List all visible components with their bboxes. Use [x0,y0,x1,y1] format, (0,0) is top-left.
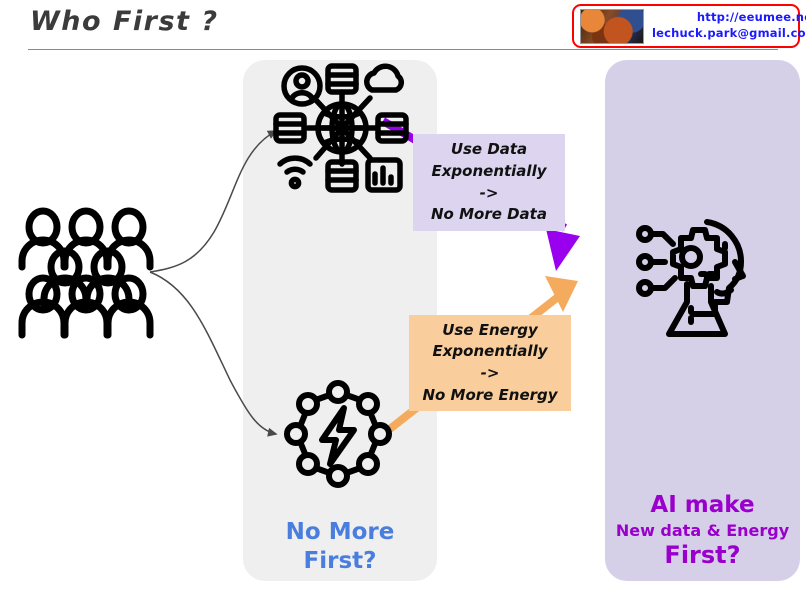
energy-callout-line4: No More Energy [413,385,567,407]
energy-callout: Use Energy Exponentially -> No More Ener… [409,315,571,411]
energy-callout-line2: Exponentially [413,341,567,363]
energy-callout-line3: -> [413,363,567,385]
ai-head-gear-icon [635,212,765,342]
data-callout-line2: Exponentially [417,161,561,183]
data-callout-line1: Use Data [417,139,561,161]
slide-canvas: Who First ? http://eeumee.net lechuck.pa… [0,0,806,593]
people-crowd-icon [12,205,160,340]
data-network-globe-icon [272,58,412,198]
energy-lightning-icon [282,378,394,490]
energy-callout-line1: Use Energy [413,320,567,342]
data-callout-line3: -> [417,183,561,205]
data-callout: Use Data Exponentially -> No More Data [413,134,565,231]
data-callout-line4: No More Data [417,204,561,226]
